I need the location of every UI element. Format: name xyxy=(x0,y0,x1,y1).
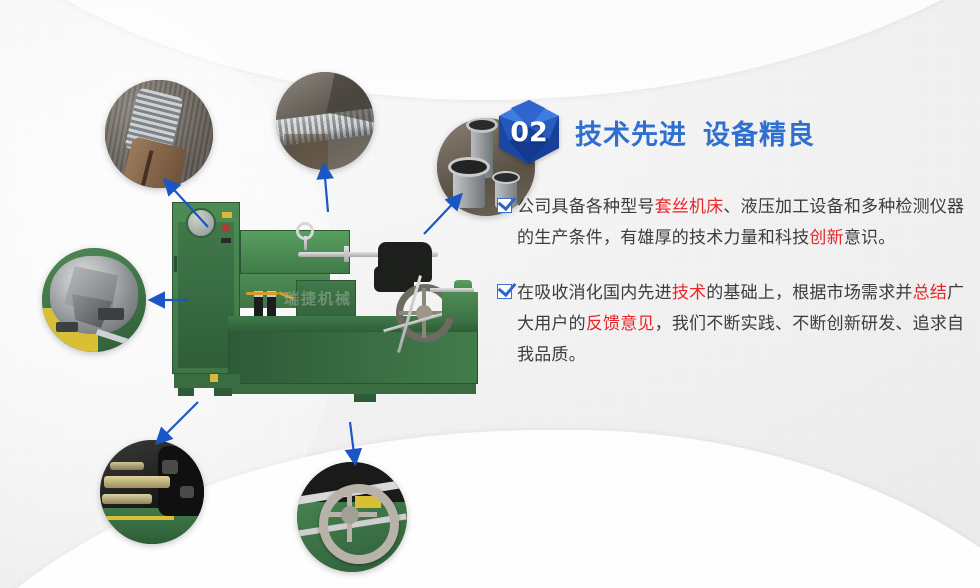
promo-banner: 瑞捷机械 xyxy=(0,0,980,588)
callout-threaded-bar xyxy=(276,72,374,170)
text-segment-highlight: 套丝机床 xyxy=(655,197,724,217)
bullet-item: 公司具备各种型号套丝机床、液压加工设备和多种检测仪器的生产条件，有雄厚的技术力量… xyxy=(497,192,967,254)
bullet-text: 公司具备各种型号套丝机床、液压加工设备和多种检测仪器的生产条件，有雄厚的技术力量… xyxy=(517,192,967,254)
hexagon-badge: 02 xyxy=(497,99,561,165)
callout-handwheel xyxy=(297,462,407,572)
checkbox-checked-icon xyxy=(497,284,512,299)
text-segment: 公司具备各种型号 xyxy=(517,197,655,217)
bullet-text: 在吸收消化国内先进技术的基础上，根据市场需求并总结广大用户的反馈意见，我们不断实… xyxy=(517,278,967,371)
headline-part-2: 设备精良 xyxy=(703,120,815,151)
text-segment-highlight: 总结 xyxy=(913,283,947,303)
checkbox-checked-icon xyxy=(497,198,512,213)
callout-die-head xyxy=(42,248,146,352)
product-machine-image: 瑞捷机械 xyxy=(168,196,484,410)
text-segment: 在吸收消化国内先进 xyxy=(517,283,672,303)
callout-hydraulic-unit xyxy=(100,440,204,544)
text-segment: 意识。 xyxy=(844,228,896,248)
product-photo-composition: 瑞捷机械 xyxy=(0,0,500,588)
headline-text: 技术先进设备精良 xyxy=(575,113,815,152)
badge-number: 02 xyxy=(497,99,561,165)
text-segment-highlight: 创新 xyxy=(809,228,843,248)
text-segment-highlight: 技术 xyxy=(672,283,706,303)
text-segment: 的基础上，根据市场需求并 xyxy=(706,283,912,303)
callout-threaded-rod xyxy=(105,80,213,188)
bullet-item: 在吸收消化国内先进技术的基础上，根据市场需求并总结广大用户的反馈意见，我们不断实… xyxy=(497,278,967,371)
bullet-list: 公司具备各种型号套丝机床、液压加工设备和多种检测仪器的生产条件，有雄厚的技术力量… xyxy=(497,192,967,371)
headline-part-1: 技术先进 xyxy=(575,120,687,151)
image-watermark: 瑞捷机械 xyxy=(284,288,352,309)
text-content-column: 02 技术先进设备精良 公司具备各种型号套丝机床、液压加工设备和多种检测仪器的生… xyxy=(497,96,967,395)
section-heading: 02 技术先进设备精良 xyxy=(497,96,967,168)
text-segment-highlight: 反馈意见 xyxy=(586,314,655,334)
